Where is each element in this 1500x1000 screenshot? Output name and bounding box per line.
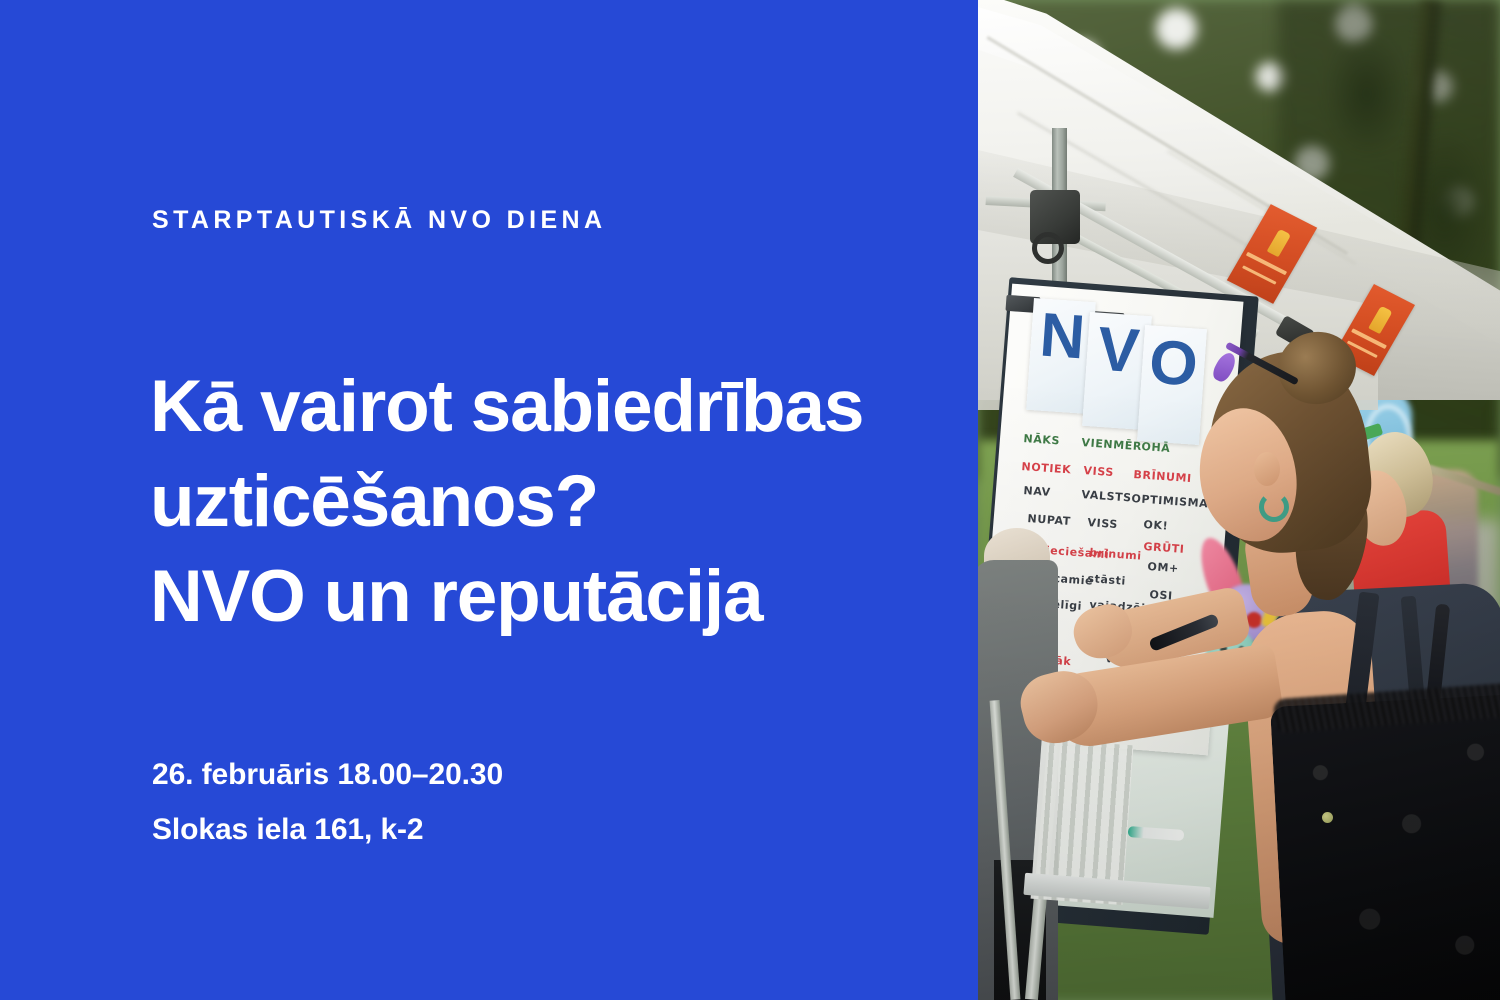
letter-sheet-o-label: O (1140, 325, 1207, 397)
handwriting-word: OM+ (1147, 560, 1179, 575)
banner-emblem-icon (1267, 228, 1292, 256)
handwriting-word: stāsti (1087, 572, 1126, 588)
event-details: 26. februāris 18.00–20.30 Slokas iela 16… (152, 748, 503, 857)
handwriting-word: OK! (1143, 518, 1169, 533)
eyebrow-label: STARPTAUTISKĀ NVO DIENA (152, 207, 606, 235)
handwriting-word: VISS (1087, 516, 1118, 531)
handwriting-word: OHĀ (1141, 440, 1171, 455)
handwriting-word: NĀKS (1023, 432, 1060, 448)
handwriting-word: NAV (1023, 484, 1051, 499)
handwriting-word: GRŪTI (1143, 540, 1185, 556)
headline-line-3: NVO un reputācija (150, 550, 980, 645)
bag-stud (1322, 812, 1333, 823)
headline-line-2: uzticēšanos? (150, 455, 980, 550)
event-photograph: N V O NĀKS VIENMĒR OHĀ NOTIEK VISS BRĪNU… (978, 0, 1500, 1000)
handwriting-word: VISS (1083, 464, 1114, 479)
easel-leg (990, 700, 1021, 1000)
woman-ear (1254, 452, 1280, 486)
event-poster: STARPTAUTISKĀ NVO DIENA Kā vairot sabied… (0, 0, 1500, 1000)
black-fuzzy-bag (1270, 693, 1500, 1000)
banner-emblem-icon (1368, 306, 1393, 334)
page-title: Kā vairot sabiedrības uzticēšanos? NVO u… (150, 360, 980, 645)
event-address: Slokas iela 161, k-2 (152, 803, 503, 858)
green-earring (1259, 492, 1289, 522)
event-datetime: 26. februāris 18.00–20.30 (152, 748, 503, 803)
tent-clamp-ring (1032, 232, 1064, 264)
headline-line-1: Kā vairot sabiedrības (150, 360, 980, 455)
blue-text-panel: STARPTAUTISKĀ NVO DIENA Kā vairot sabied… (0, 0, 978, 1000)
letter-sheet-o: O (1137, 325, 1207, 445)
